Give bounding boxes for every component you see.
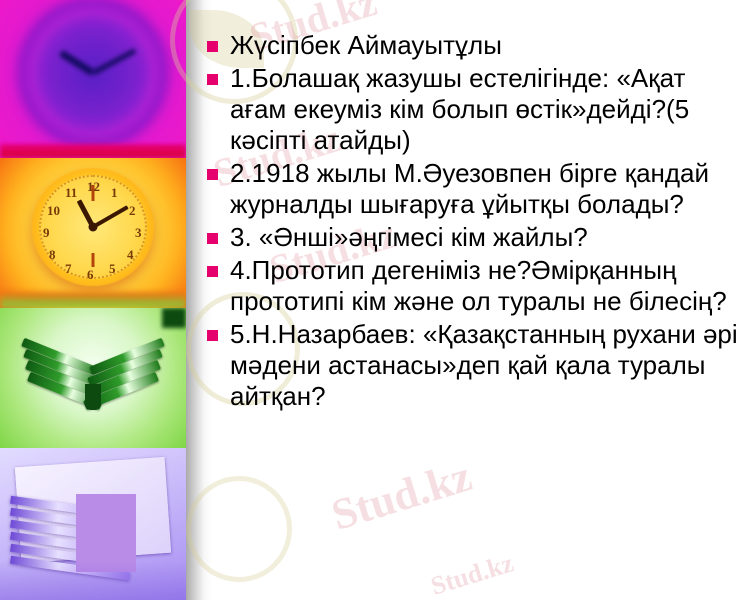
bullet-text: 2.1918 жылы М.Әуезовпен бірге қандай жур… — [230, 158, 709, 219]
panel-bottom-band — [0, 292, 186, 308]
panel-corner-shadow — [162, 308, 186, 328]
clock-tick-6-icon — [92, 253, 95, 267]
bullet-item-q3: 3. «Әнші»әңгімесі кім жайлы? — [200, 222, 745, 253]
bullet-item-q4: 4.Прототип дегеніміз не?Әмірқанның прото… — [200, 255, 745, 317]
panel-clock-purple — [0, 0, 186, 158]
panel-bottom-shade — [0, 560, 186, 600]
clock-numeral: 10 — [47, 203, 60, 219]
clock-numeral: 8 — [49, 247, 56, 263]
bullet-square-icon — [207, 74, 218, 85]
bullet-list: Жүсіпбек Аймауытұлы 1.Болашақ жазушы ест… — [200, 30, 745, 412]
bullet-square-icon — [207, 330, 218, 341]
bullet-item-q5: 5.Н.Назарбаев: «Қазақстанның рухани әрі … — [200, 319, 745, 412]
open-book-icon — [18, 336, 168, 426]
clock-numeral: 7 — [65, 261, 72, 277]
panel-papers-purple — [0, 448, 186, 600]
clock-numeral: 4 — [127, 247, 134, 263]
clock-numeral: 9 — [43, 225, 50, 241]
slide-canvas: 12 1 2 3 4 5 6 7 8 9 10 11 — [0, 0, 751, 600]
clock-numeral: 3 — [135, 225, 142, 241]
bullet-text: 5.Н.Назарбаев: «Қазақстанның рухани әрі … — [230, 319, 738, 411]
watermark-text: Stud.kz — [326, 450, 478, 541]
bullet-square-icon — [207, 169, 218, 180]
bullet-item-q2: 2.1918 жылы М.Әуезовпен бірге қандай жур… — [200, 158, 745, 220]
bullet-text: 4.Прототип дегеніміз не?Әмірқанның прото… — [230, 255, 727, 316]
bullet-square-icon — [207, 266, 218, 277]
image-strip: 12 1 2 3 4 5 6 7 8 9 10 11 — [0, 0, 186, 600]
bullet-square-icon — [207, 233, 218, 244]
clock-numeral: 5 — [109, 261, 116, 277]
slide-content: Жүсіпбек Аймауытұлы 1.Болашақ жазушы ест… — [200, 30, 745, 414]
panel-clock-orange: 12 1 2 3 4 5 6 7 8 9 10 11 — [0, 158, 186, 308]
clock-numeral: 11 — [65, 185, 77, 201]
bullet-square-icon — [207, 41, 218, 52]
bullet-item-title: Жүсіпбек Аймауытұлы — [200, 30, 745, 61]
bullet-text: Жүсіпбек Аймауытұлы — [230, 30, 502, 60]
clock-numeral: 6 — [87, 267, 94, 283]
panel-bottom-band — [0, 144, 186, 158]
bullet-text: 3. «Әнші»әңгімесі кім жайлы? — [230, 222, 588, 252]
clock-center-pin-icon — [89, 223, 98, 232]
watermark-text: Stud.kz — [427, 548, 517, 600]
bullet-text: 1.Болашақ жазушы естелігінде: «Ақат ағам… — [230, 63, 689, 155]
clock-numeral: 2 — [129, 203, 136, 219]
panel-book-green — [0, 308, 186, 448]
clock-numeral: 1 — [111, 185, 118, 201]
bullet-item-q1: 1.Болашақ жазушы естелігінде: «Ақат ағам… — [200, 63, 745, 156]
book-spine — [85, 384, 101, 410]
clock-numeral: 12 — [87, 179, 100, 195]
